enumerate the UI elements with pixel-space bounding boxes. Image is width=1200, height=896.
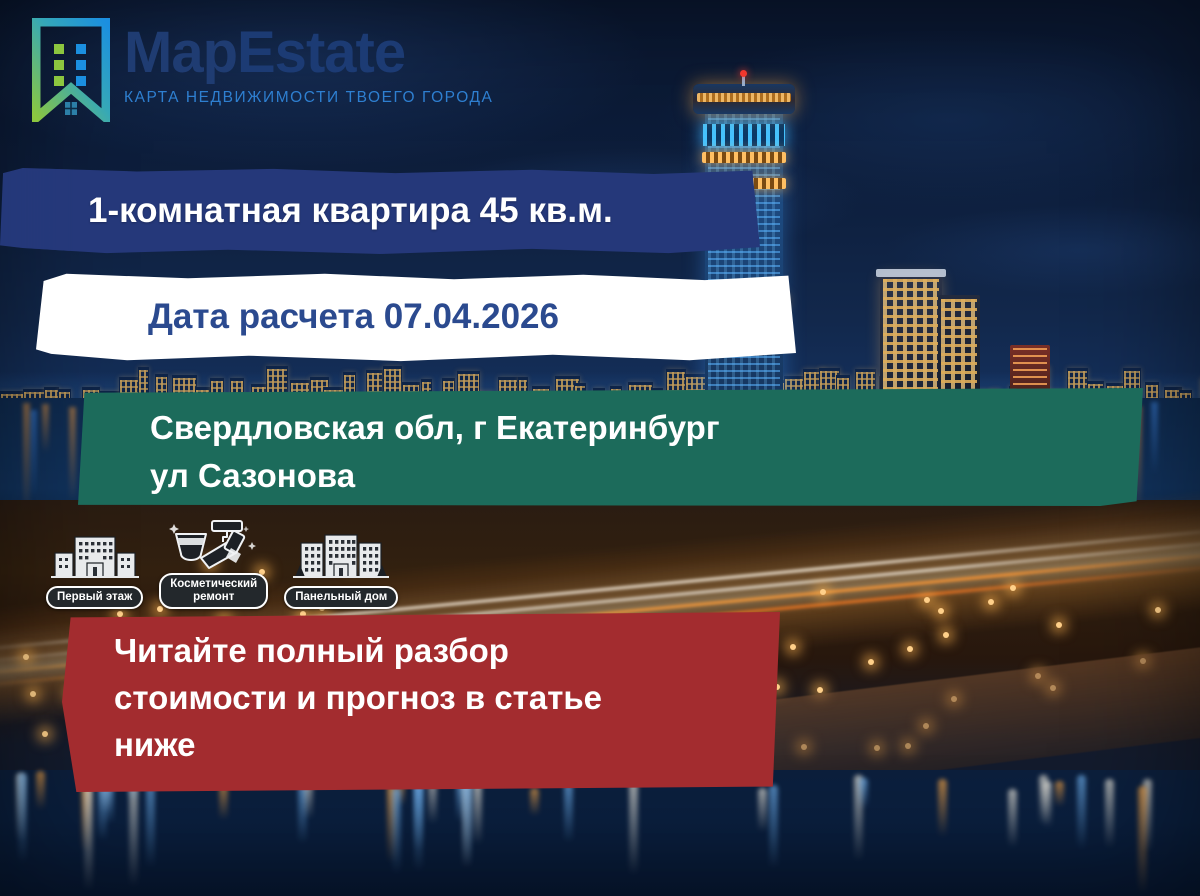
highrise-windows-2 <box>941 299 977 400</box>
badge-first-floor[interactable]: Первый этаж <box>46 531 143 609</box>
cta-line-2: стоимости и прогноз в статье <box>114 675 780 722</box>
highrise-right <box>880 275 942 400</box>
badge-cosmetic-renovation[interactable]: Косметический ремонт <box>159 518 268 609</box>
tower-mast <box>742 74 745 86</box>
address-region-city: Свердловская обл, г Екатеринбург <box>150 404 1143 452</box>
cta-line-3: ниже <box>114 722 780 769</box>
brand-name-estate: Estate <box>237 20 405 85</box>
brand-wordmark: MapEstate КАРТА НЕДВИЖИМОСТИ ТВОЕГО ГОРО… <box>124 18 493 107</box>
tower-crown <box>693 84 795 114</box>
address-band: Свердловская обл, г Екатеринбург ул Сазо… <box>78 388 1143 506</box>
brand-name: MapEstate <box>124 24 493 82</box>
brand-logo[interactable]: MapEstate КАРТА НЕДВИЖИМОСТИ ТВОЕГО ГОРО… <box>32 18 493 122</box>
calculation-date-band: Дата расчета 07.04.2026 <box>36 272 796 362</box>
property-title-band: 1-комнатная квартира 45 кв.м. <box>0 168 760 254</box>
feature-badges: Первый этаж <box>46 518 398 609</box>
badge-label: Панельный дом <box>284 586 398 609</box>
property-title: 1-комнатная квартира 45 кв.м. <box>88 191 613 231</box>
tower-blue-band <box>703 124 785 146</box>
highrise-cap <box>876 269 946 277</box>
badge-panel-house[interactable]: Панельный дом <box>284 531 398 609</box>
promo-card: MapEstate КАРТА НЕДВИЖИМОСТИ ТВОЕГО ГОРО… <box>0 0 1200 896</box>
highrise-right-secondary <box>938 295 980 400</box>
badge-label: Первый этаж <box>46 586 143 609</box>
tower-light-band-a <box>702 152 786 163</box>
calculation-date: Дата расчета 07.04.2026 <box>148 297 559 337</box>
badge-label: Косметический ремонт <box>159 573 268 609</box>
brand-name-map: Map <box>124 20 237 85</box>
cta-line-1: Читайте полный разбор <box>114 628 780 675</box>
panel-apartment-building-icon <box>293 531 389 583</box>
brand-tagline: КАРТА НЕДВИЖИМОСТИ ТВОЕГО ГОРОДА <box>124 89 493 107</box>
bookmark-building-logo-icon <box>32 18 110 122</box>
paint-roller-brush-icon <box>168 518 260 570</box>
cta-band[interactable]: Читайте полный разбор стоимости и прогно… <box>62 612 780 792</box>
highrise-windows <box>883 279 939 400</box>
address-street: ул Сазонова <box>150 452 1143 500</box>
building-first-floor-icon <box>49 531 141 583</box>
